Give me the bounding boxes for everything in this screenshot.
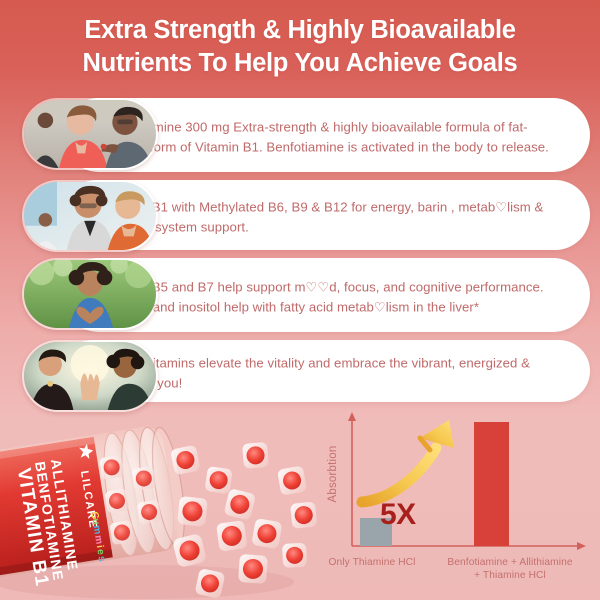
multiplier-annotation: 5X xyxy=(380,498,416,532)
benefit-thumbnail-4 xyxy=(22,340,158,412)
benefit-text-2: Vitamin B1 with Methylated B6, B9 & B12 … xyxy=(104,198,566,237)
growth-arrow-icon xyxy=(362,420,454,502)
benefit-thumbnail-3 xyxy=(22,258,158,330)
absorption-bar-chart: 5X Absorbtion Only Thiamine HCl Benfotia… xyxy=(312,404,594,596)
benefit-text-1: Benfotiamine 300 mg Extra-strength & hig… xyxy=(104,118,566,157)
svg-text:m: m xyxy=(91,525,103,536)
chart-category-label-1: Only Thiamine HCl xyxy=(314,556,430,569)
bar-benfotiamine-blend xyxy=(474,422,509,546)
benefits-list: Benfotiamine 300 mg Extra-strength & hig… xyxy=(0,96,600,408)
list-item: Vitamin B1 with Methylated B6, B9 & B12 … xyxy=(0,178,600,256)
svg-text:s: s xyxy=(96,555,108,563)
list-item: Vitamin B5 and B7 help support m♡♡d, foc… xyxy=(0,256,600,338)
benefit-text-4: All 8 B vitamins elevate the vitality an… xyxy=(104,354,566,393)
chart-category-label-2: Benfotiamine + Allithiamine + Thiamine H… xyxy=(422,556,598,582)
page-title: Extra Strength & Highly Bioavailable Nut… xyxy=(0,14,600,80)
benefit-thumbnail-2 xyxy=(22,180,158,252)
svg-text:m: m xyxy=(92,535,104,546)
headline-line-2: Nutrients To Help You Achieve Goals xyxy=(12,47,588,80)
chart-y-axis-label: Absorbtion xyxy=(327,429,339,519)
headline-line-1: Extra Strength & Highly Bioavailable xyxy=(12,14,588,47)
product-photo: VITAMIN B1 BENFOTIAMINE ALLITHIAMINE LIL… xyxy=(0,392,334,600)
list-item: Benfotiamine 300 mg Extra-strength & hig… xyxy=(0,96,600,178)
benefit-thumbnail-1 xyxy=(22,98,158,170)
benefit-text-3: Vitamin B5 and B7 help support m♡♡d, foc… xyxy=(104,278,566,317)
